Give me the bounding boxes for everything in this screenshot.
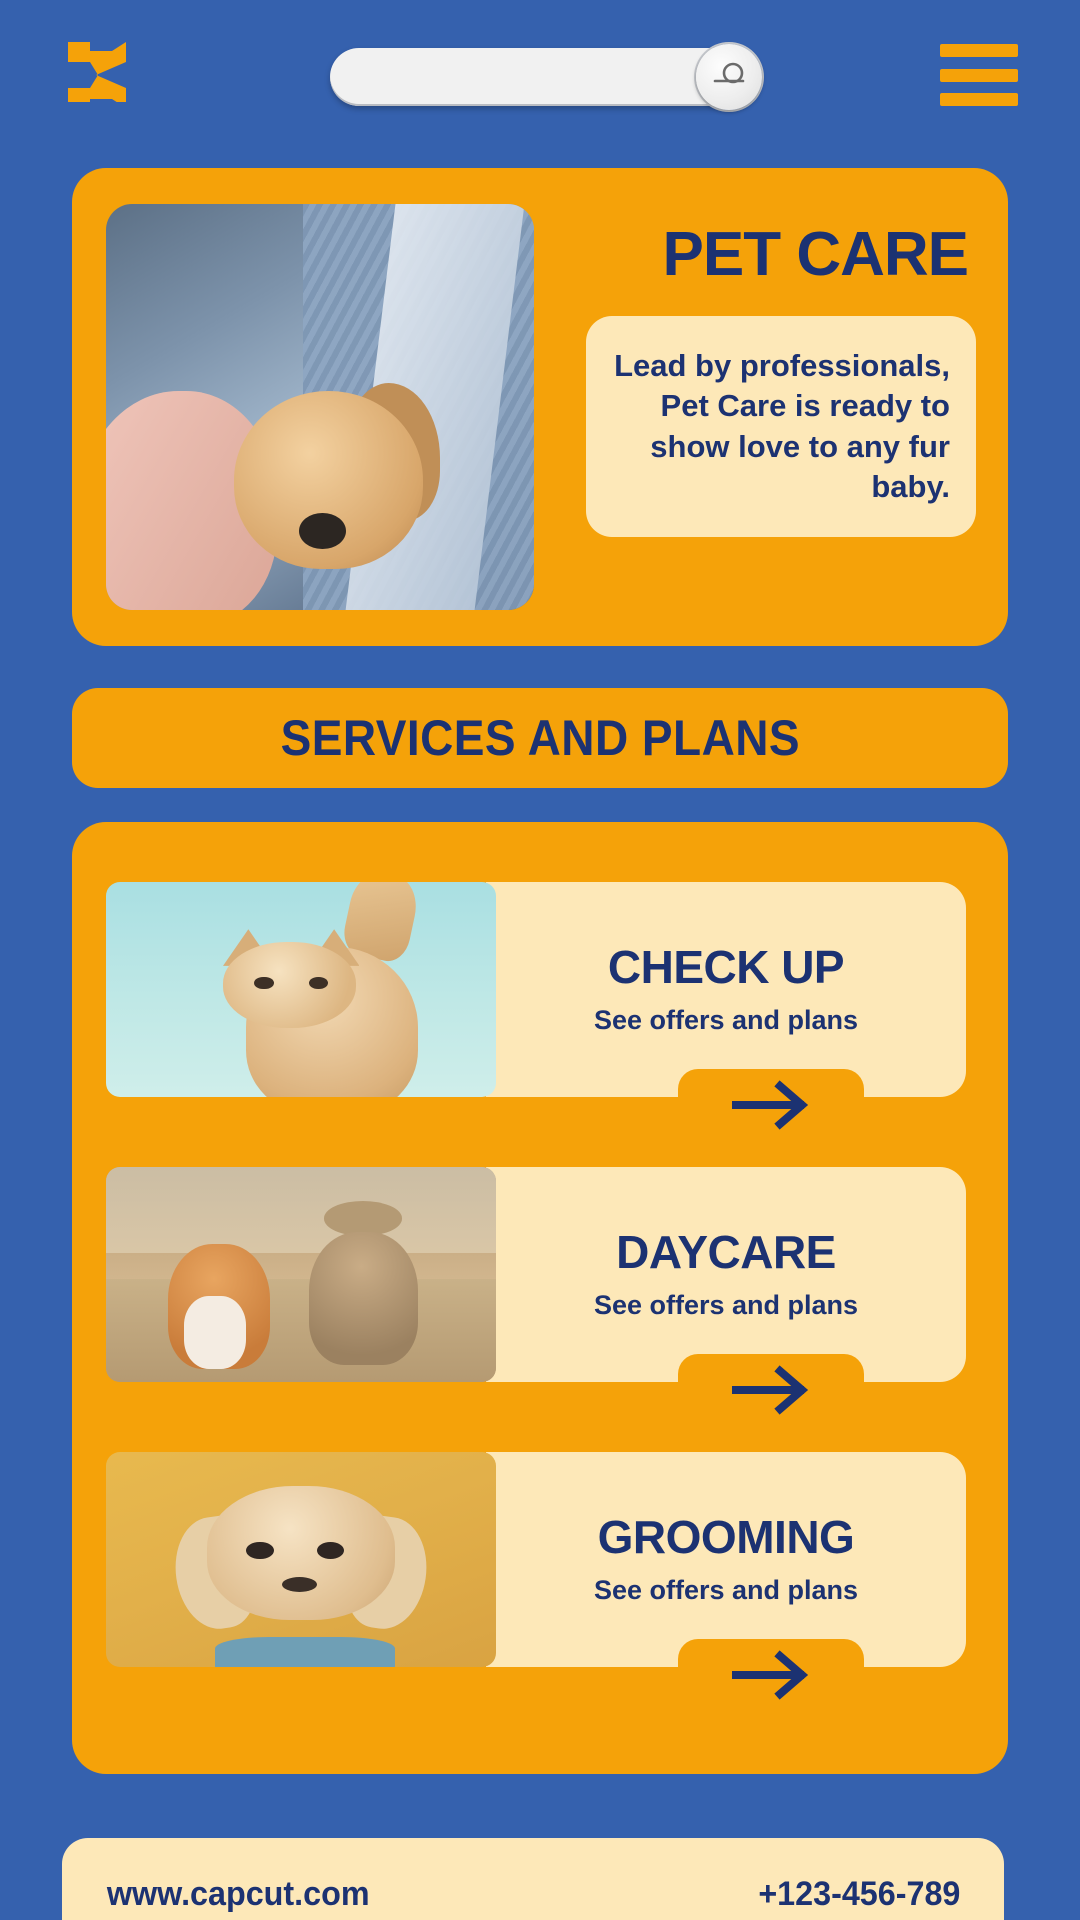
service-card-daycare[interactable]: DAYCARE See offers and plans xyxy=(106,1167,966,1382)
service-title: GROOMING xyxy=(598,1513,855,1561)
service-card-grooming[interactable]: GROOMING See offers and plans xyxy=(106,1452,966,1667)
service-text-grooming: GROOMING See offers and plans xyxy=(486,1452,966,1667)
search-bar[interactable] xyxy=(330,48,756,106)
services-panel: CHECK UP See offers and plans xyxy=(72,822,1008,1774)
footer-phone[interactable]: +123-456-789 xyxy=(759,1875,961,1914)
arrow-right-icon[interactable] xyxy=(678,1639,864,1711)
service-card-check-up[interactable]: CHECK UP See offers and plans xyxy=(106,882,966,1097)
capcut-logo[interactable] xyxy=(62,36,140,102)
arrow-right-icon[interactable] xyxy=(678,1069,864,1141)
hero-card: PET CARE Lead by professionals, Pet Care… xyxy=(72,168,1008,646)
menu-bar-1 xyxy=(940,44,1018,57)
hero-image xyxy=(106,204,534,610)
menu-bar-2 xyxy=(940,69,1018,82)
service-text-check-up: CHECK UP See offers and plans xyxy=(486,882,966,1097)
search-input[interactable] xyxy=(330,48,756,106)
service-image-daycare xyxy=(106,1167,496,1382)
service-subtitle: See offers and plans xyxy=(594,1575,858,1606)
page-header xyxy=(0,0,1080,140)
arrow-right-icon[interactable] xyxy=(678,1354,864,1426)
service-title: CHECK UP xyxy=(608,943,844,991)
pet-care-landing-page: PET CARE Lead by professionals, Pet Care… xyxy=(0,0,1080,1920)
hero-description: Lead by professionals, Pet Care is ready… xyxy=(586,316,976,537)
service-subtitle: See offers and plans xyxy=(594,1290,858,1321)
service-subtitle: See offers and plans xyxy=(594,1005,858,1036)
service-image-grooming xyxy=(106,1452,496,1667)
service-text-daycare: DAYCARE See offers and plans xyxy=(486,1167,966,1382)
search-icon[interactable] xyxy=(696,44,762,110)
page-footer: www.capcut.com +123-456-789 xyxy=(62,1838,1004,1920)
hamburger-menu-icon[interactable] xyxy=(940,44,1018,106)
hero-title: PET CARE xyxy=(663,224,968,286)
footer-website[interactable]: www.capcut.com xyxy=(107,1875,370,1914)
services-banner-title: SERVICES AND PLANS xyxy=(280,709,799,767)
service-title: DAYCARE xyxy=(616,1228,836,1276)
service-image-check-up xyxy=(106,882,496,1097)
hero-text-column: PET CARE Lead by professionals, Pet Care… xyxy=(580,196,976,616)
menu-bar-3 xyxy=(940,93,1018,106)
services-banner: SERVICES AND PLANS xyxy=(72,688,1008,788)
